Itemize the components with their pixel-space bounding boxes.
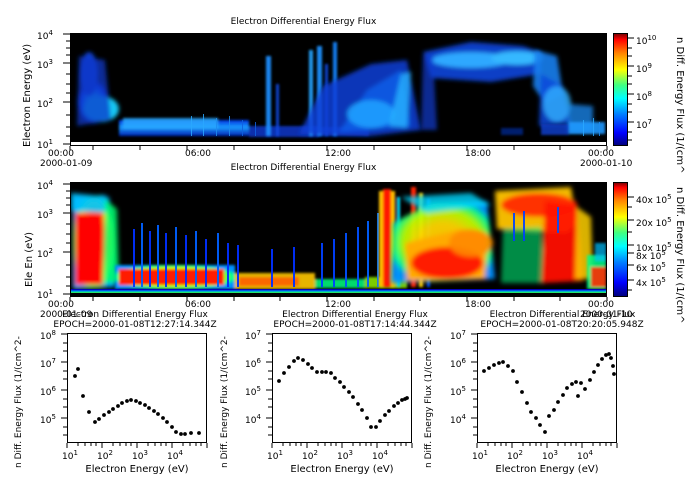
axis-tickmarks: [0, 0, 697, 492]
